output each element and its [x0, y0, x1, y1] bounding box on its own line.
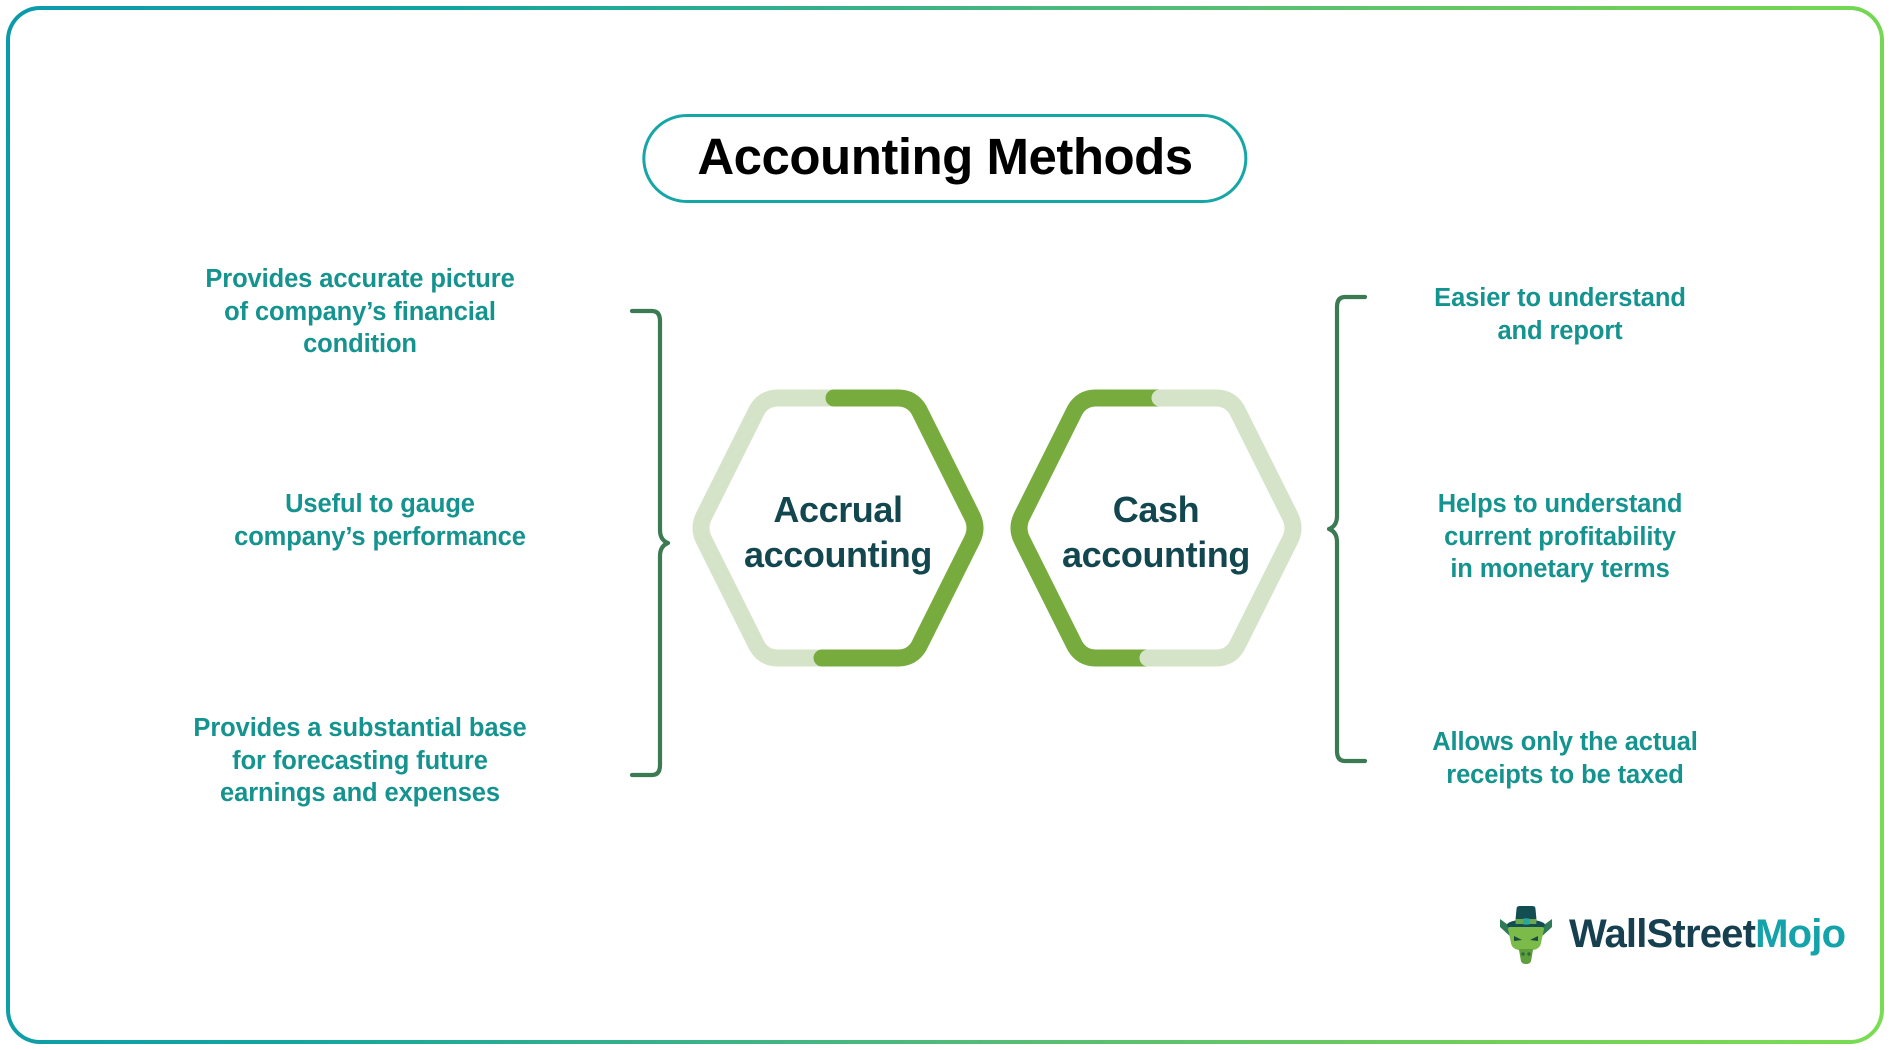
hexagon-accrual-outline-icon: [682, 388, 994, 678]
hexagon-accrual-accounting[interactable]: Accrual accounting: [682, 388, 994, 678]
benefit-left-1-line-1: Provides accurate picture: [140, 263, 580, 296]
benefit-left-1: Provides accurate picture of company’s f…: [140, 263, 580, 361]
infographic-frame: Accounting Methods Provides accurate pic…: [6, 6, 1884, 1044]
benefit-right-2-line-2: current profitability: [1370, 521, 1750, 554]
page-title: Accounting Methods: [697, 129, 1192, 184]
benefit-right-2-line-3: in monetary terms: [1370, 553, 1750, 586]
benefit-left-3-line-3: earnings and expenses: [125, 777, 595, 810]
benefit-left-1-line-2: of company’s financial: [140, 296, 580, 329]
hexagon-cash-outline-icon: [1000, 388, 1312, 678]
brand-name-secondary: Mojo: [1755, 912, 1845, 956]
hexagon-cluster: Accrual accounting Cash accounting: [682, 388, 1312, 678]
right-curly-brace-icon: [1325, 294, 1369, 764]
benefit-right-3-line-2: receipts to be taxed: [1380, 759, 1750, 792]
benefit-left-3-line-2: for forecasting future: [125, 745, 595, 778]
benefit-right-1-line-2: and report: [1380, 315, 1740, 348]
benefit-right-1: Easier to understand and report: [1380, 282, 1740, 347]
brand-logo[interactable]: WallStreetMojo: [1497, 903, 1845, 965]
benefit-right-3-line-1: Allows only the actual: [1380, 726, 1750, 759]
benefit-left-2-line-1: Useful to gauge: [160, 488, 600, 521]
infographic-canvas: Accounting Methods Provides accurate pic…: [10, 10, 1880, 1040]
benefit-right-2-line-1: Helps to understand: [1370, 488, 1750, 521]
benefit-left-3: Provides a substantial base for forecast…: [125, 712, 595, 810]
benefit-left-2-line-2: company’s performance: [160, 521, 600, 554]
bull-with-top-hat-icon: [1497, 903, 1555, 965]
page-title-pill: Accounting Methods: [642, 114, 1247, 203]
brand-name-primary: WallStreet: [1569, 912, 1755, 956]
left-curly-brace-icon: [628, 308, 672, 778]
benefit-right-3: Allows only the actual receipts to be ta…: [1380, 726, 1750, 791]
benefit-left-3-line-1: Provides a substantial base: [125, 712, 595, 745]
benefit-left-1-line-3: condition: [140, 328, 580, 361]
benefit-left-2: Useful to gauge company’s performance: [160, 488, 600, 553]
brand-wordmark: WallStreetMojo: [1569, 914, 1845, 954]
benefit-right-2: Helps to understand current profitabilit…: [1370, 488, 1750, 586]
hexagon-cash-accounting[interactable]: Cash accounting: [1000, 388, 1312, 678]
benefit-right-1-line-1: Easier to understand: [1380, 282, 1740, 315]
